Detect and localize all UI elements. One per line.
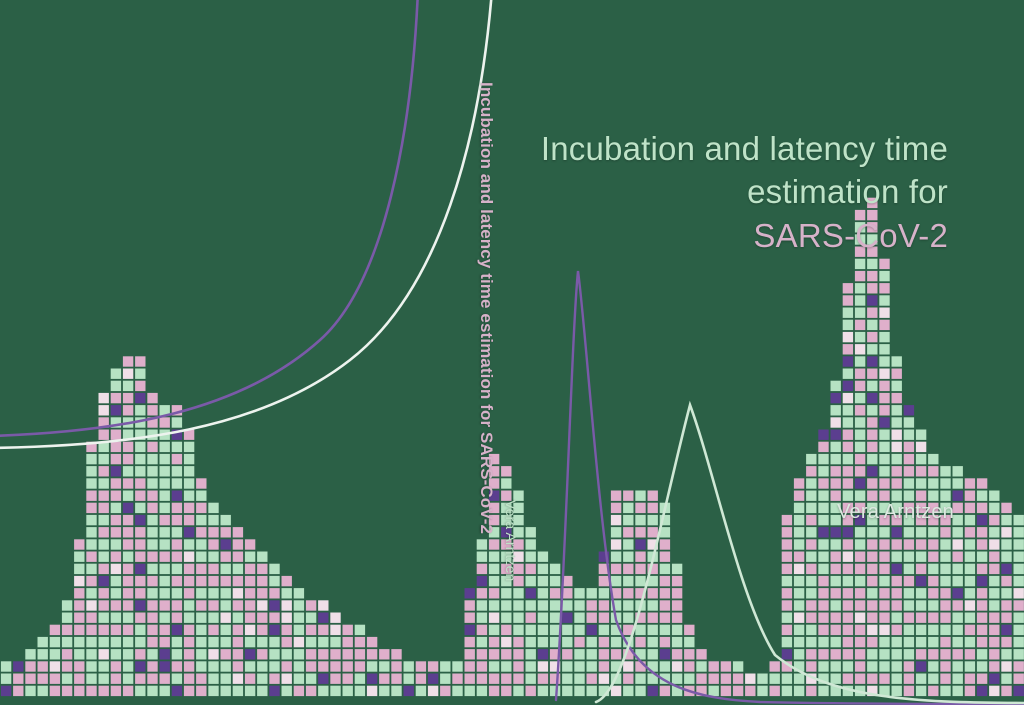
- density-curves: [0, 0, 1024, 705]
- spine-title: Incubation and latency time estimation f…: [476, 82, 496, 534]
- exponential-purple-curve: [0, 0, 418, 436]
- book-cover: Incubation and latency time estimation f…: [0, 0, 1024, 705]
- incubation-density-curve: [556, 271, 1024, 704]
- exponential-white-curve: [0, 0, 492, 448]
- title-line-2: estimation for: [747, 173, 948, 210]
- front-cover-author: Vera Arntzen: [837, 501, 954, 524]
- front-cover-title: Incubation and latency time estimation f…: [528, 128, 948, 258]
- title-line-3: SARS-CoV-2: [528, 215, 948, 258]
- spine-author: Vera Arntzen: [503, 500, 519, 581]
- latency-density-curve: [596, 405, 1024, 703]
- title-line-1: Incubation and latency time: [541, 130, 948, 167]
